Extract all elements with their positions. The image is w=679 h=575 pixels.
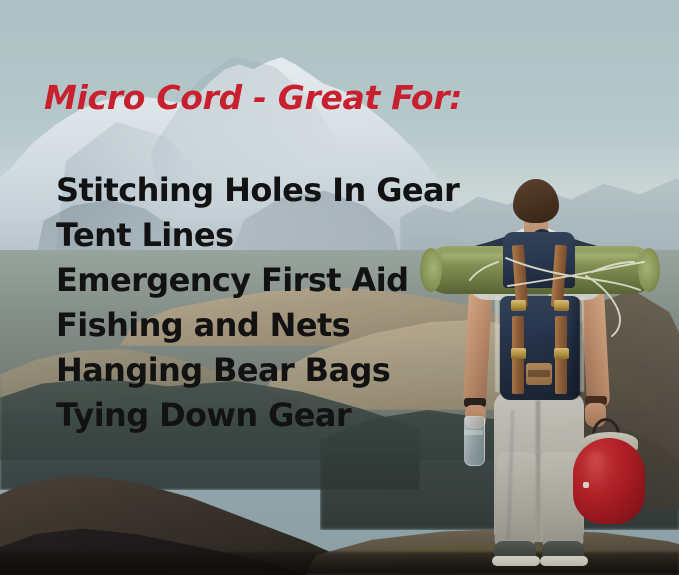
backpack-logo-mark bbox=[528, 370, 550, 377]
left-shoe-sole bbox=[492, 556, 540, 566]
list-item: Tent Lines bbox=[56, 213, 459, 258]
backpack-webbing-right bbox=[580, 296, 584, 392]
pant-seam bbox=[536, 400, 540, 550]
water-bottle-label bbox=[464, 430, 483, 435]
backpack-buckle-lower-right bbox=[554, 348, 569, 359]
hiker-right-arm bbox=[581, 285, 610, 408]
red-stuff-sack bbox=[573, 438, 645, 524]
poster-headline: Micro Cord - Great For: bbox=[44, 78, 462, 117]
hiker-hair bbox=[513, 179, 559, 223]
water-bottle bbox=[464, 416, 485, 466]
stuff-sack-tag bbox=[583, 482, 589, 488]
list-item: Hanging Bear Bags bbox=[56, 348, 459, 393]
hiker-left-pant-leg bbox=[494, 451, 537, 548]
backpack-buckle-upper-right bbox=[554, 300, 569, 311]
stuff-sack-highlight bbox=[586, 452, 606, 496]
hiker-left-arm bbox=[463, 285, 492, 408]
right-shoe-sole bbox=[540, 556, 588, 566]
list-item: Fishing and Nets bbox=[56, 303, 459, 348]
backpack-buckle-lower-left bbox=[511, 348, 526, 359]
use-case-list: Stitching Holes In Gear Tent Lines Emerg… bbox=[56, 168, 459, 438]
list-item: Stitching Holes In Gear bbox=[56, 168, 459, 213]
list-item: Tying Down Gear bbox=[56, 393, 459, 438]
sleeping-mat-end-right bbox=[638, 248, 660, 292]
backpack-buckle-upper-left bbox=[511, 300, 526, 311]
list-item: Emergency First Aid bbox=[56, 258, 459, 303]
product-feature-poster: Micro Cord - Great For: Stitching Holes … bbox=[0, 0, 679, 575]
backpack-webbing-left bbox=[495, 296, 499, 392]
